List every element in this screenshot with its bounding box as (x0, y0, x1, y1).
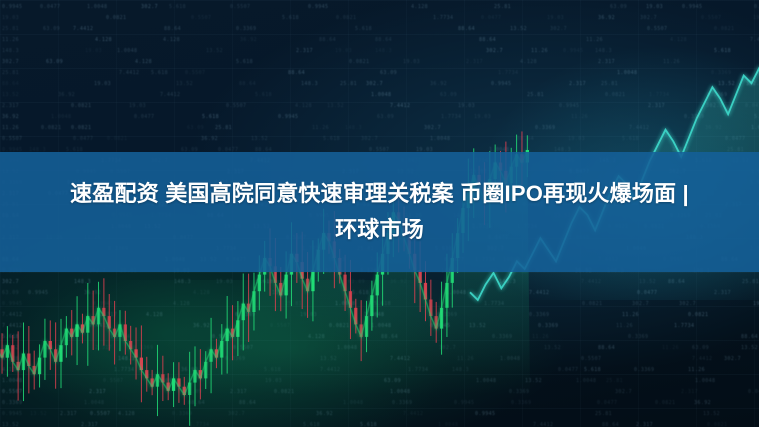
headline-line-1: 速盈配资 美国高院同意快速审理关税案 币圈IPO再现火爆场面 | (70, 176, 689, 212)
headline-overlay-band: 速盈配资 美国高院同意快速审理关税案 币圈IPO再现火爆场面 | 环球市场 (0, 152, 759, 272)
headline-line-2: 环球市场 (335, 212, 424, 248)
hero-image-canvas: 0.99450.04771.0048302.75.6180.55070.9945… (0, 0, 759, 427)
